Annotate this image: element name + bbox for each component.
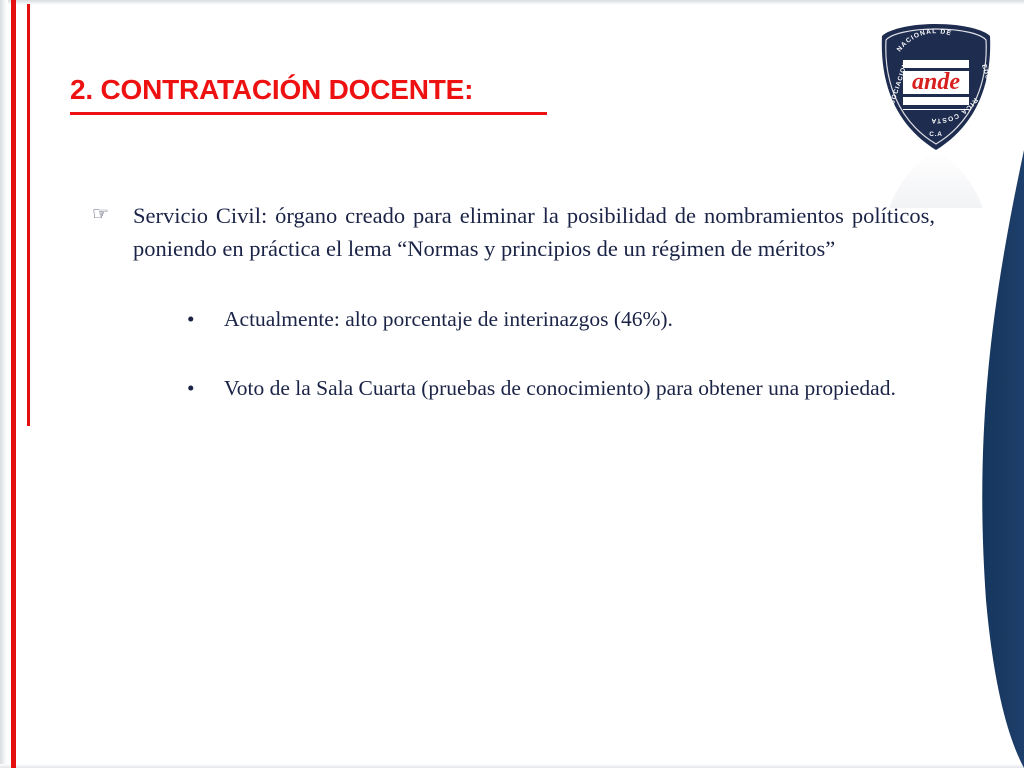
presentation-slide: ande NACIONAL DE RICA COSTA ASOCIACION E… <box>0 0 1024 768</box>
bullet-level2-text: Voto de la Sala Cuarta (pruebas de conoc… <box>224 376 896 400</box>
logo-ring-text-ca: C.A <box>929 131 942 138</box>
bullet-level2-item: • Actualmente: alto porcentaje de interi… <box>182 303 934 335</box>
bullet-level2-item: • Voto de la Sala Cuarta (pruebas de con… <box>182 372 934 404</box>
ande-wordmark: ande <box>912 69 960 95</box>
bullet-level2-group: • Actualmente: alto porcentaje de interi… <box>90 303 935 404</box>
ande-shield-logo: ande NACIONAL DE RICA COSTA ASOCIACION E… <box>872 18 1000 208</box>
bullet-level1-item: ☞ Servicio Civil: órgano creado para eli… <box>90 200 935 265</box>
red-accent-bar-thin <box>27 4 30 426</box>
page-title: 2. CONTRATACIÓN DOCENTE: <box>70 74 473 106</box>
slide-bottom-edge-shade <box>0 764 1024 768</box>
slide-body: ☞ Servicio Civil: órgano creado para eli… <box>90 200 935 404</box>
pointing-hand-icon: ☞ <box>92 201 109 229</box>
red-accent-bar-thick <box>11 0 16 768</box>
page-title-underline <box>70 112 547 115</box>
slide-left-edge-shade <box>0 0 8 768</box>
dot-bullet-icon: • <box>187 372 195 404</box>
bullet-level2-text: Actualmente: alto porcentaje de interina… <box>224 307 673 331</box>
dot-bullet-icon: • <box>187 303 195 335</box>
slide-top-edge-shade <box>0 0 1024 5</box>
bullet-level1-text: Servicio Civil: órgano creado para elimi… <box>133 203 935 261</box>
